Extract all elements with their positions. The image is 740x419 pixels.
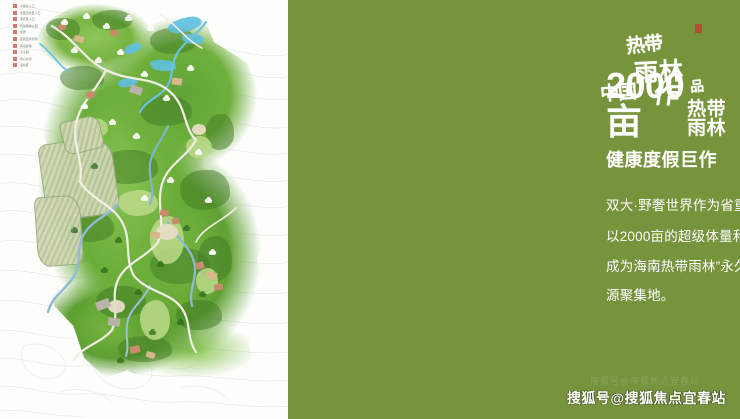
building (150, 231, 161, 238)
body-line: 以2000亩的超级体量和雨林生活+特色景区复合开发模式， (606, 221, 740, 252)
legend-label: 原生雨林公园 (20, 24, 38, 28)
legend-marker-icon (13, 17, 17, 21)
building (214, 284, 224, 291)
map-legend: 小区总入口 景区溫泉区入口 酒店区入口 原生雨林公园 会所 度假温泉泡池 (13, 4, 41, 67)
legend-label: 溪谷区 (20, 63, 29, 67)
legend-marker-icon (13, 63, 17, 67)
legend-label: 酒店区入口 (20, 17, 35, 21)
legend-marker-icon (13, 44, 17, 48)
legend-item: 度假温泉泡池 (13, 37, 41, 41)
legend-item: 溪谷区 (13, 63, 41, 67)
headline-secondary: 热带雨林 (687, 100, 740, 140)
building (172, 77, 183, 85)
legend-marker-icon (13, 4, 17, 8)
legend-item: 会所 (13, 30, 41, 34)
road-network (0, 0, 288, 419)
legend-item: 原生雨林公园 (13, 24, 41, 28)
legend-label: 民宿客栈 (20, 44, 32, 48)
legend-marker-icon (13, 11, 17, 15)
seal-stamp-icon (695, 24, 702, 33)
legend-label: 中心水景 (20, 57, 32, 61)
legend-label: 会所 (20, 30, 26, 34)
legend-item: 中心水景 (13, 57, 41, 61)
legend-label: 亲子园 (20, 50, 29, 54)
legend-marker-icon (13, 30, 17, 34)
legend-label: 景区溫泉区入口 (20, 11, 41, 15)
content-panel: 热带 雨林 中国 作 品 2000亩 热带雨林 健康度假巨作 双大·野奢世界作为… (288, 0, 740, 419)
watermark: 搜狐号@搜狐焦点宜春站 (567, 388, 726, 408)
body-copy: 双大·野奢世界作为省重点开发项目， 以2000亩的超级体量和雨林生活+特色景区复… (606, 190, 740, 310)
presentation-slide: 小区总入口 景区溫泉区入口 酒店区入口 原生雨林公园 会所 度假温泉泡池 (0, 0, 740, 419)
legend-item: 民宿客栈 (13, 44, 41, 48)
headline-row: 2000亩 热带雨林 (606, 68, 740, 140)
building (110, 30, 119, 37)
legend-item: 小区总入口 (13, 4, 41, 8)
legend-label: 小区总入口 (20, 4, 35, 8)
legend-marker-icon (13, 57, 17, 61)
body-line: 成为海南热带雨林”永久不再开发”政策体系下，独树一帜的健康资源聚集地。 (606, 252, 740, 310)
masterplan-map: 小区总入口 景区溫泉区入口 酒店区入口 原生雨林公园 会所 度假温泉泡池 (0, 0, 288, 419)
legend-item: 酒店区入口 (13, 17, 41, 21)
watermark-faint: 搜狐号@搜狐焦点宜春站 (590, 374, 700, 387)
building (108, 317, 121, 327)
legend-marker-icon (13, 24, 17, 28)
headline-subtitle: 健康度假巨作 (606, 151, 740, 169)
headline-block: 2000亩 热带雨林 健康度假巨作 (606, 68, 740, 169)
plaza (192, 124, 206, 135)
body-line: 双大·野奢世界作为省重点开发项目， (606, 190, 740, 221)
legend-marker-icon (13, 37, 17, 41)
legend-label: 度假温泉泡池 (20, 37, 38, 41)
legend-item: 亲子园 (13, 50, 41, 54)
legend-item: 景区溫泉区入口 (13, 11, 41, 15)
legend-marker-icon (13, 50, 17, 54)
headline-primary: 2000亩 (606, 68, 684, 140)
building (172, 218, 180, 225)
